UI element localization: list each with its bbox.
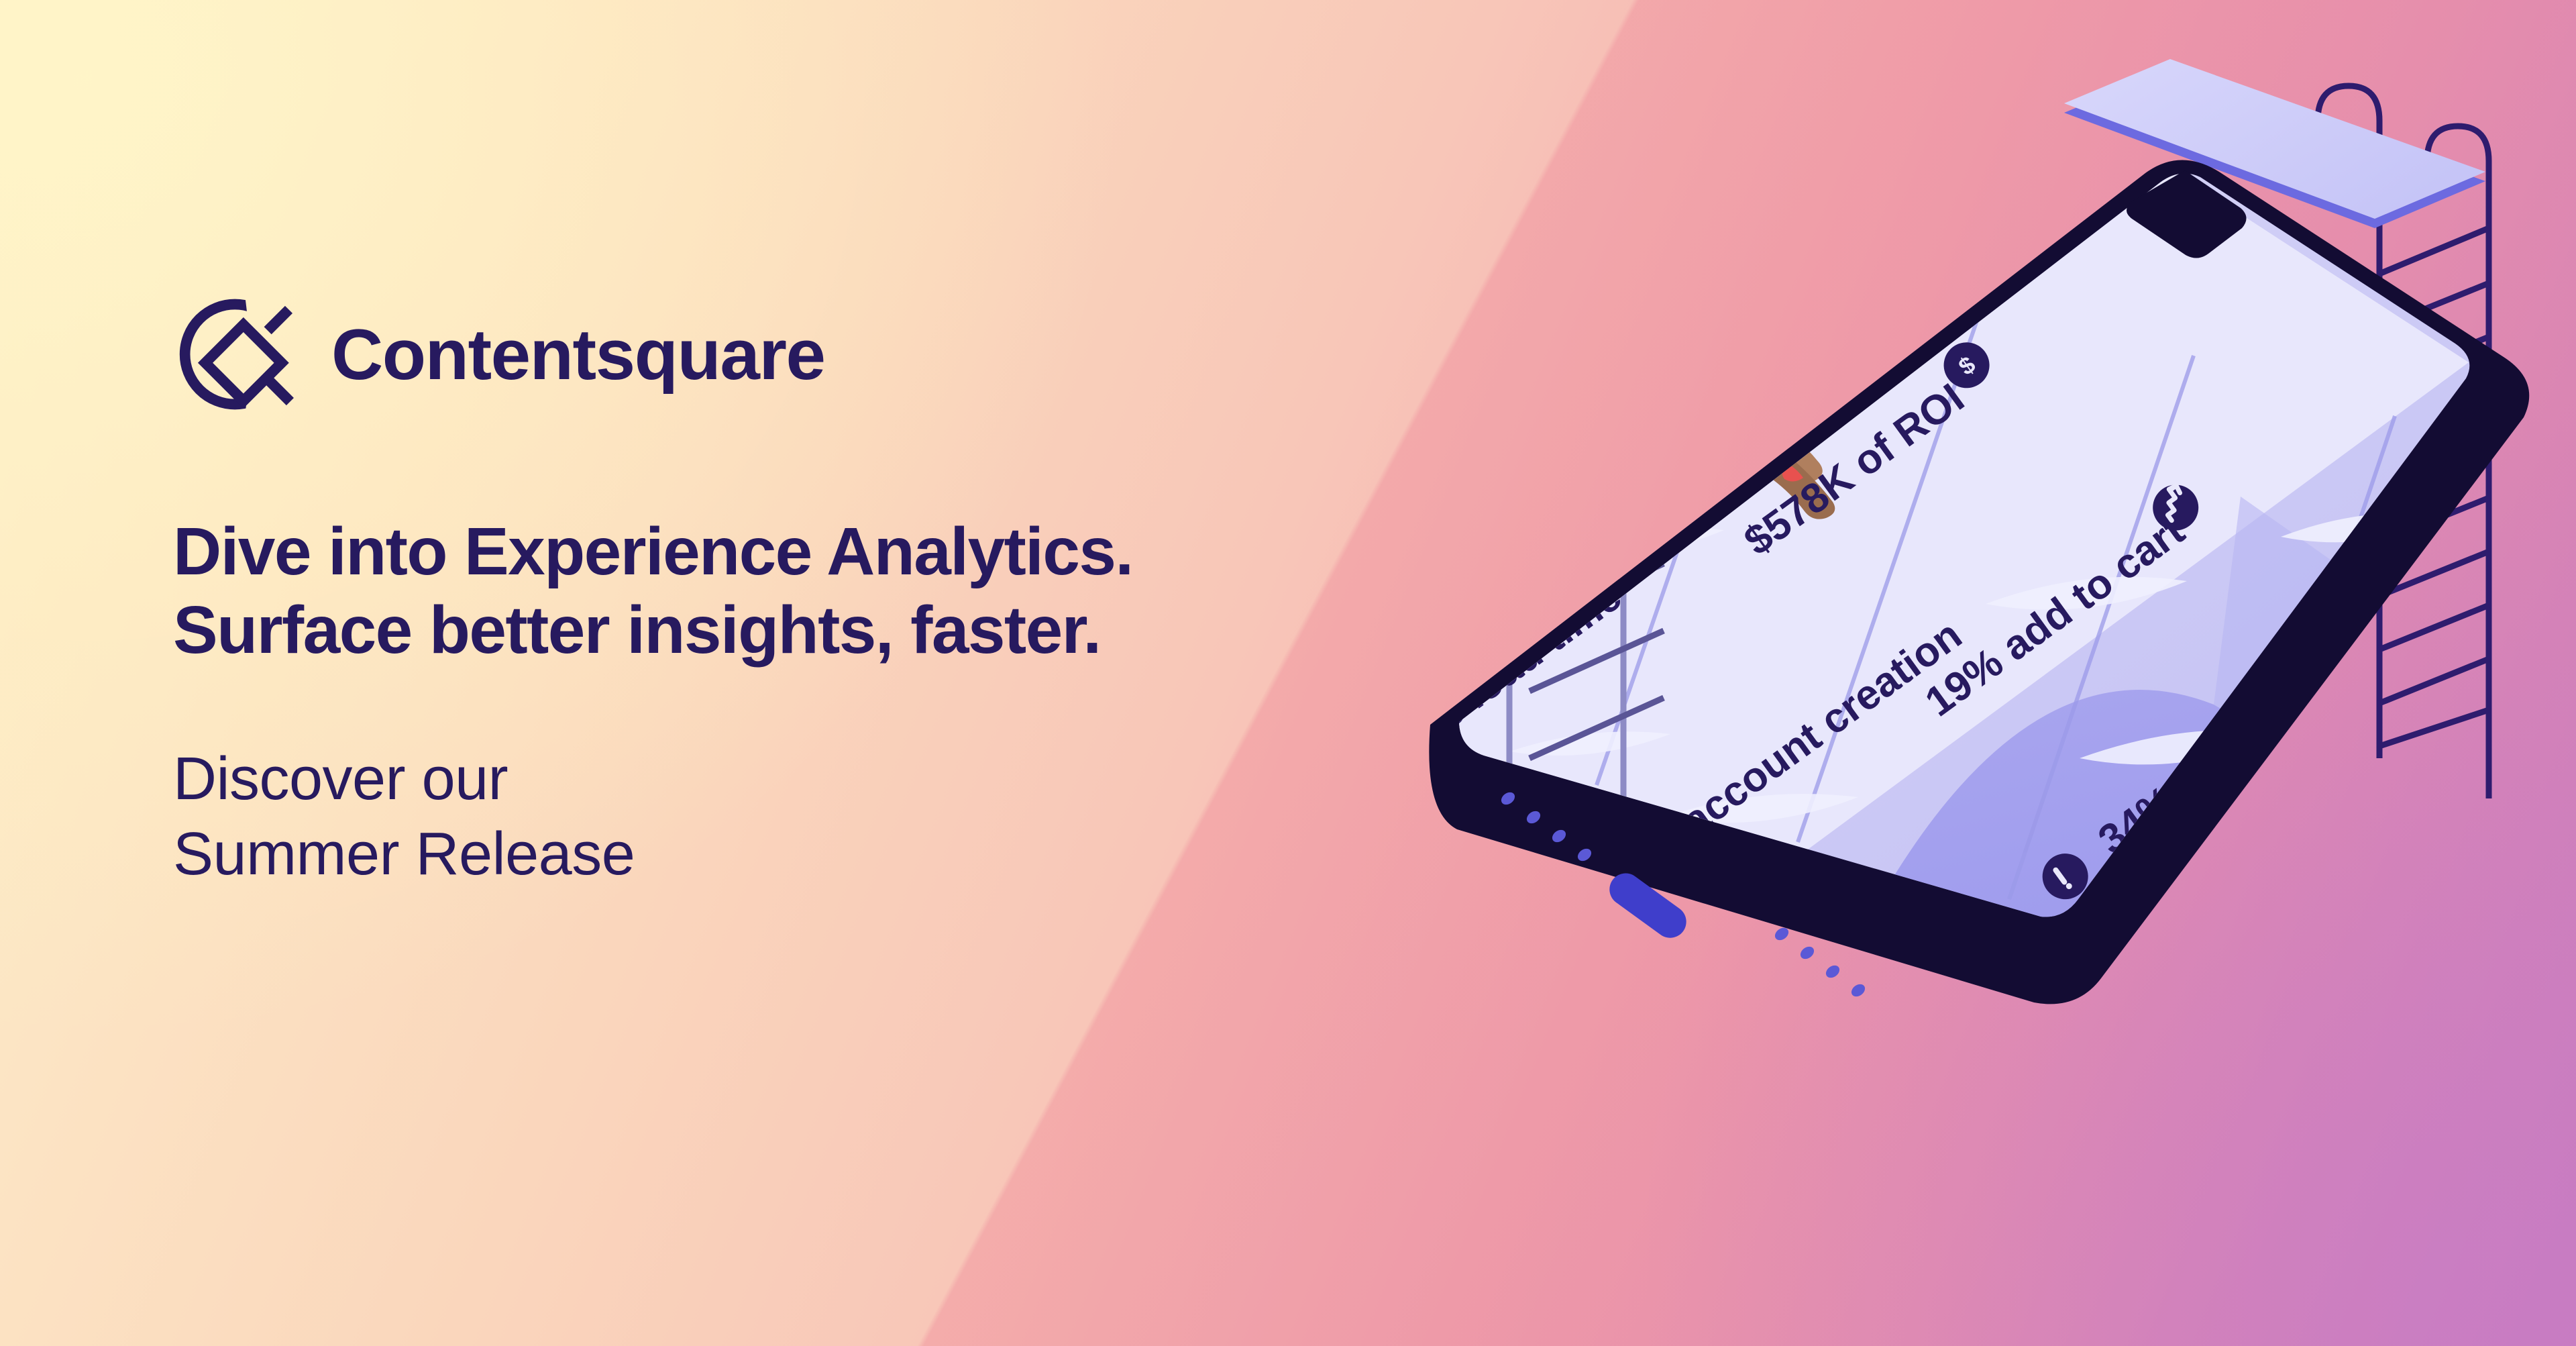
subheadline: Discover our Summer Release [173, 742, 1179, 892]
content-column: Contentsquare Dive into Experience Analy… [173, 289, 1179, 892]
phone-pool-illustration: 3s less load time 32% accou [1194, 27, 2576, 1346]
woman-on-pool-float [1540, 246, 1835, 519]
page-title: Dive into Experience Analytics. Surface … [173, 513, 1179, 670]
brand-logo[interactable]: Contentsquare [173, 289, 1179, 420]
brand-name: Contentsquare [331, 319, 825, 391]
contentsquare-logo-mark [173, 289, 305, 420]
marketing-banner: Contentsquare Dive into Experience Analy… [0, 0, 2576, 1346]
check-circle-icon [1542, 880, 1605, 944]
